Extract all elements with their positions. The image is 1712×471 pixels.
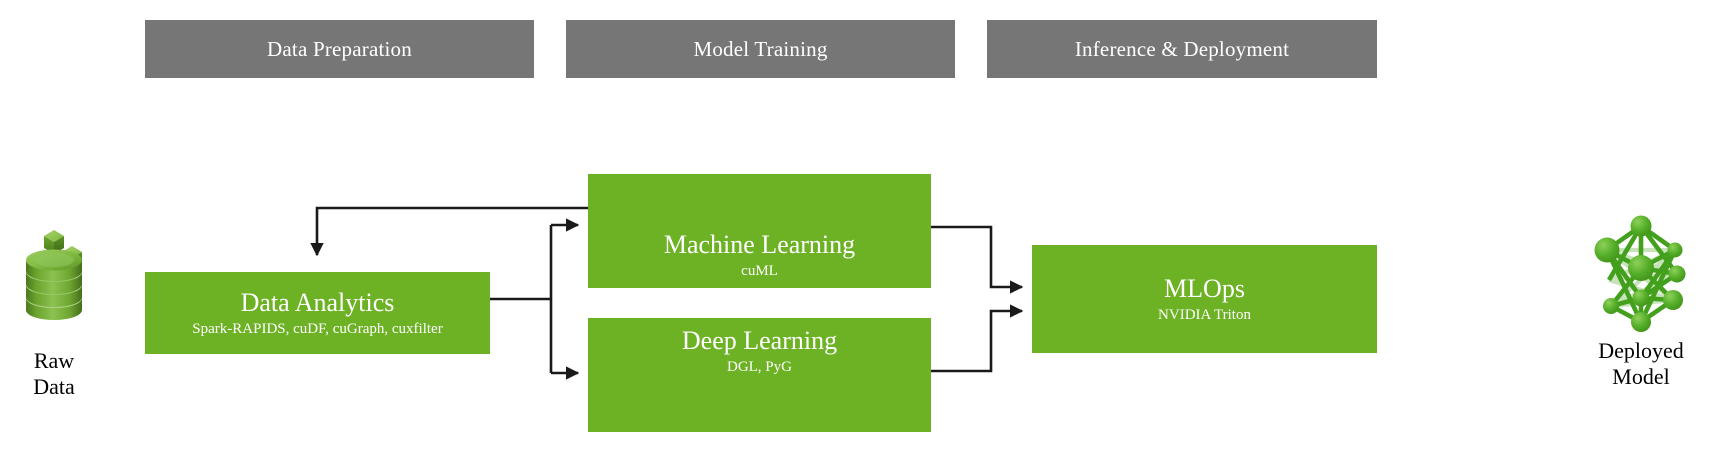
stage-box-subtitle: NVIDIA Triton — [1158, 306, 1251, 324]
connector-machine-learning-to-mlops — [931, 227, 1022, 287]
neural-network-icon — [1585, 206, 1697, 332]
connector-deep-learning-to-mlops — [931, 311, 1022, 371]
stage-box-title: Machine Learning — [664, 230, 855, 259]
phase-banner-label: Inference & Deployment — [1075, 37, 1289, 62]
phase-banner-label: Model Training — [693, 37, 827, 62]
stage-box-mlops[interactable]: MLOps NVIDIA Triton — [1032, 245, 1377, 353]
endpoint-label-line1: Deployed — [1598, 338, 1684, 364]
stage-box-title: Deep Learning — [682, 326, 837, 355]
stage-box-subtitle: DGL, PyG — [727, 358, 792, 376]
connector-machine-learning-feedback — [317, 208, 588, 255]
endpoint-label-line2: Model — [1598, 364, 1684, 390]
phase-banner-inference-deployment: Inference & Deployment — [987, 20, 1377, 78]
endpoint-label: Raw Data — [33, 348, 75, 399]
endpoint-deployed-model: Deployed Model — [1578, 206, 1704, 389]
stage-box-data-analytics[interactable]: Data Analytics Spark-RAPIDS, cuDF, cuGra… — [145, 272, 490, 354]
phase-banner-label: Data Preparation — [267, 37, 412, 62]
phase-banner-data-preparation: Data Preparation — [145, 20, 534, 78]
stage-box-title: MLOps — [1164, 274, 1245, 303]
database-stack-icon — [14, 212, 94, 342]
stage-box-machine-learning[interactable]: Machine Learning cuML — [588, 174, 931, 288]
endpoint-label-line2: Data — [33, 374, 75, 400]
pipeline-diagram: Data Preparation Model Training Inferenc… — [0, 0, 1712, 471]
stage-box-title: Data Analytics — [241, 288, 395, 317]
endpoint-label: Deployed Model — [1598, 338, 1684, 389]
phase-banner-model-training: Model Training — [566, 20, 955, 78]
stage-box-subtitle: Spark-RAPIDS, cuDF, cuGraph, cuxfilter — [192, 320, 442, 338]
endpoint-raw-data: Raw Data — [8, 212, 100, 399]
disk-stack — [26, 250, 82, 321]
endpoint-label-line1: Raw — [33, 348, 75, 374]
stage-box-subtitle: cuML — [741, 262, 778, 280]
nn-nodes — [1595, 216, 1686, 333]
stage-box-deep-learning[interactable]: Deep Learning DGL, PyG — [588, 318, 931, 432]
